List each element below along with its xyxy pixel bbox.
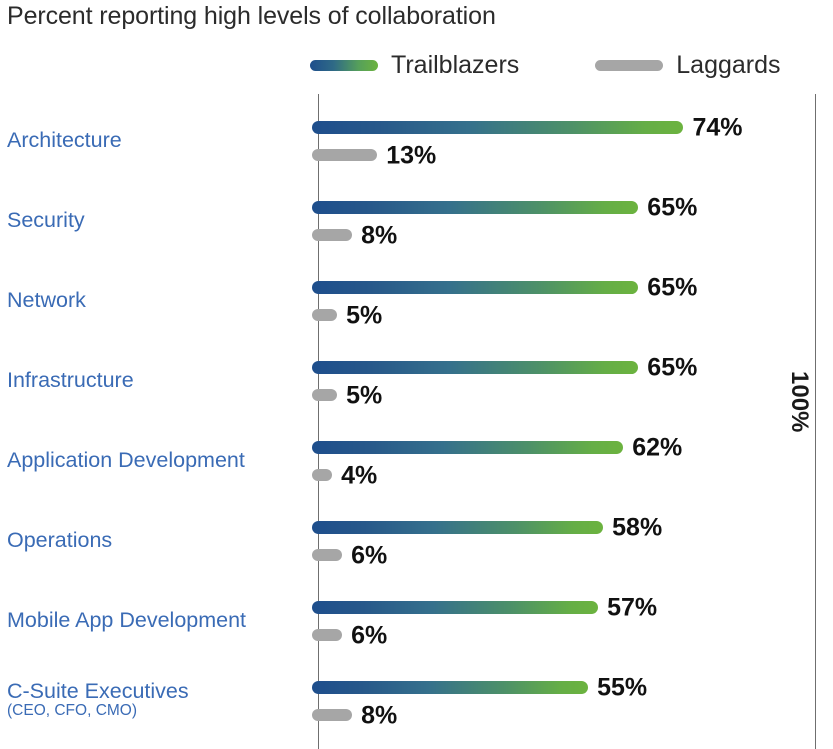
legend-label-laggards: Laggards (676, 53, 780, 78)
bar-value-trailblazers: 74% (692, 115, 742, 140)
bar-value-trailblazers: 65% (647, 355, 697, 380)
bar-value-laggards: 5% (346, 383, 382, 408)
bar-laggards: 5% (312, 309, 337, 322)
chart-page: Percent reporting high levels of collabo… (0, 0, 833, 749)
bar-fill-trailblazers (312, 521, 603, 534)
bar-value-trailblazers: 55% (597, 675, 647, 700)
bar-fill-laggards (312, 709, 352, 721)
bar-fill-trailblazers (312, 121, 683, 134)
bar-row: Mobile App Development57%6% (0, 587, 833, 667)
plot-area: 100% Architecture74%13%Security65%8%Netw… (0, 94, 833, 749)
category-sublabel: (CEO, CFO, CMO) (7, 703, 307, 719)
bar-value-laggards: 6% (351, 543, 387, 568)
bar-fill-laggards (312, 389, 337, 401)
legend-item-laggards: Laggards (595, 53, 780, 78)
bar-row: Security65%8% (0, 187, 833, 267)
bar-fill-laggards (312, 149, 377, 161)
bar-value-trailblazers: 58% (612, 515, 662, 540)
chart-legend: Trailblazers Laggards (310, 48, 810, 82)
legend-item-trailblazers: Trailblazers (310, 53, 519, 78)
bar-fill-trailblazers (312, 601, 598, 614)
category-label: Operations (7, 529, 307, 551)
bar-laggards: 5% (312, 389, 337, 402)
bar-trailblazers: 55% (312, 681, 588, 694)
bar-fill-trailblazers (312, 441, 623, 454)
bar-row: Application Development62%4% (0, 427, 833, 507)
bar-value-laggards: 8% (361, 223, 397, 248)
bar-trailblazers: 58% (312, 521, 603, 534)
bar-row: Architecture74%13% (0, 107, 833, 187)
legend-label-trailblazers: Trailblazers (391, 53, 519, 78)
bar-fill-laggards (312, 469, 332, 481)
bar-laggards: 6% (312, 629, 342, 642)
bar-fill-trailblazers (312, 281, 638, 294)
page-title: Percent reporting high levels of collabo… (7, 2, 496, 31)
bar-laggards: 4% (312, 469, 332, 482)
bar-trailblazers: 57% (312, 601, 598, 614)
bar-trailblazers: 65% (312, 281, 638, 294)
bar-value-trailblazers: 57% (607, 595, 657, 620)
bar-value-trailblazers: 65% (647, 275, 697, 300)
category-label: Infrastructure (7, 369, 307, 391)
bar-value-laggards: 6% (351, 623, 387, 648)
bar-value-laggards: 4% (341, 463, 377, 488)
bar-fill-laggards (312, 629, 342, 641)
bar-value-laggards: 5% (346, 303, 382, 328)
category-label: Network (7, 289, 307, 311)
laggards-swatch-icon (595, 60, 663, 71)
bar-trailblazers: 65% (312, 361, 638, 374)
bar-value-trailblazers: 65% (647, 195, 697, 220)
category-label: Application Development (7, 449, 307, 471)
bar-value-laggards: 8% (361, 703, 397, 728)
category-label: Security (7, 209, 307, 231)
category-label: Architecture (7, 129, 307, 151)
bar-fill-trailblazers (312, 201, 638, 214)
category-label: Mobile App Development (7, 609, 307, 631)
bar-fill-trailblazers (312, 361, 638, 374)
bar-fill-laggards (312, 309, 337, 321)
bar-row: Network65%5% (0, 267, 833, 347)
bar-fill-trailblazers (312, 681, 588, 694)
category-label: C-Suite Executives(CEO, CFO, CMO) (7, 680, 307, 719)
bar-trailblazers: 74% (312, 121, 683, 134)
bar-fill-laggards (312, 549, 342, 561)
bar-fill-laggards (312, 229, 352, 241)
bar-row: Infrastructure65%5% (0, 347, 833, 427)
bar-laggards: 8% (312, 709, 352, 722)
bar-trailblazers: 65% (312, 201, 638, 214)
bar-laggards: 8% (312, 229, 352, 242)
bar-laggards: 6% (312, 549, 342, 562)
bar-laggards: 13% (312, 149, 377, 162)
trailblazers-swatch-icon (310, 60, 378, 71)
bar-row: C-Suite Executives(CEO, CFO, CMO)55%8% (0, 667, 833, 747)
bar-row: Operations58%6% (0, 507, 833, 587)
bar-value-laggards: 13% (386, 143, 436, 168)
bar-value-trailblazers: 62% (632, 435, 682, 460)
bar-trailblazers: 62% (312, 441, 623, 454)
